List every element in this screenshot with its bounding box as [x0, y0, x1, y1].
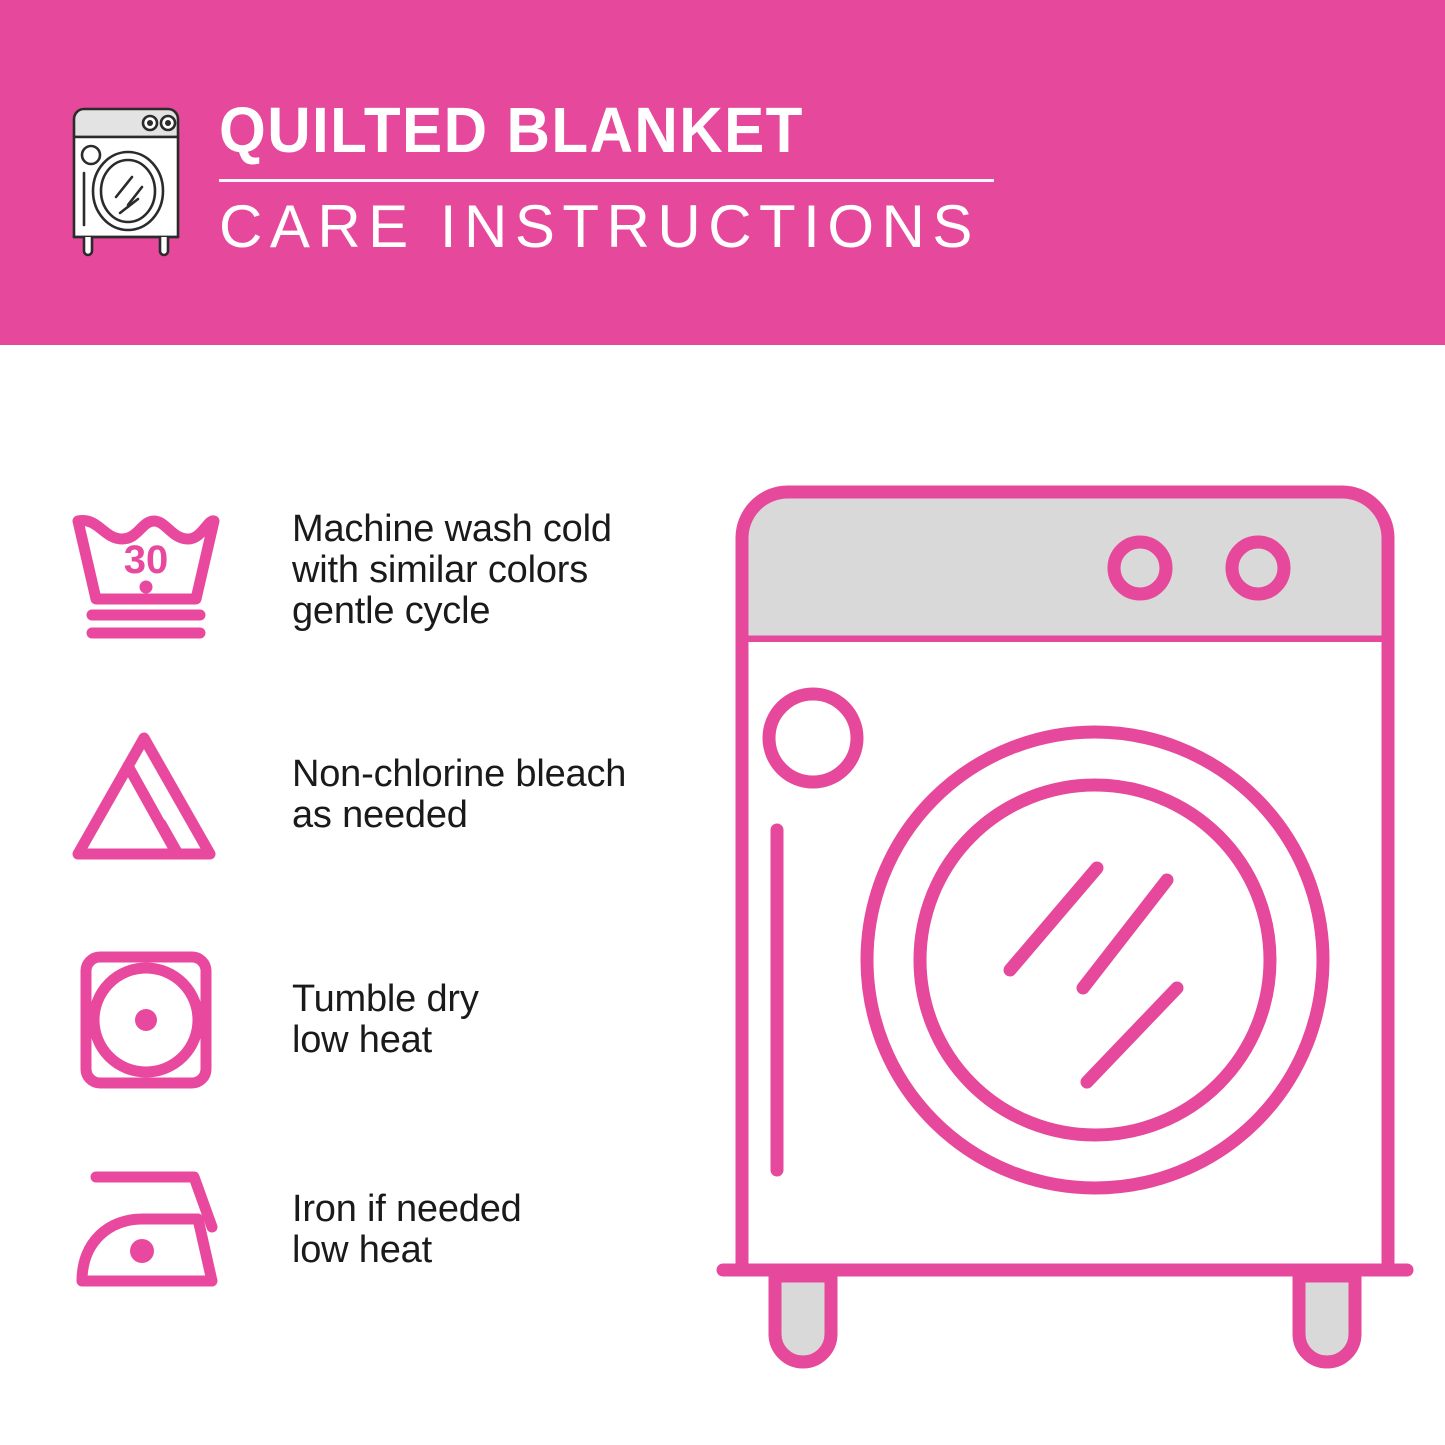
header-title-block: QUILTED BLANKET CARE INSTRUCTIONS [219, 95, 994, 260]
knob-right[interactable] [1232, 542, 1284, 594]
care-instruction-list: 30 Machine wash cold with similar colors… [0, 345, 700, 1445]
header-banner: QUILTED BLANKET CARE INSTRUCTIONS [0, 0, 1445, 345]
page-subtitle: CARE INSTRUCTIONS [219, 194, 994, 260]
care-item-label: Iron if needed low heat [292, 1189, 522, 1271]
foot-left [775, 1276, 831, 1362]
wash-temperature-value: 30 [124, 538, 169, 582]
care-item-iron: Iron if needed low heat [66, 1155, 686, 1305]
iron-icon [66, 1155, 226, 1305]
dry-heat-dot [135, 1009, 157, 1031]
washing-machine-icon [58, 101, 193, 261]
detergent-dispenser-circle[interactable] [769, 694, 857, 782]
control-panel [742, 492, 1388, 642]
wash-dot [140, 581, 153, 594]
care-item-label: Non-chlorine bleach as needed [292, 754, 626, 836]
title-divider [219, 179, 994, 182]
foot-right [1299, 1276, 1355, 1362]
front-load-washer-svg [715, 470, 1415, 1370]
header-content: QUILTED BLANKET CARE INSTRUCTIONS [58, 95, 994, 261]
page-title: QUILTED BLANKET [219, 95, 948, 165]
iron-heat-dot [130, 1239, 154, 1263]
tumble-dry-icon [66, 945, 226, 1095]
care-item-tumble-dry: Tumble dry low heat [66, 945, 686, 1095]
bleach-triangle-icon [66, 720, 226, 870]
knob-left[interactable] [1114, 542, 1166, 594]
care-item-label: Machine wash cold with similar colors ge… [292, 509, 612, 632]
care-item-machine-wash: 30 Machine wash cold with similar colors… [66, 495, 686, 645]
washing-machine-illustration [715, 470, 1415, 1370]
wash-tub-30-icon: 30 [66, 495, 226, 645]
care-item-bleach: Non-chlorine bleach as needed [66, 720, 686, 870]
care-item-label: Tumble dry low heat [292, 979, 479, 1061]
